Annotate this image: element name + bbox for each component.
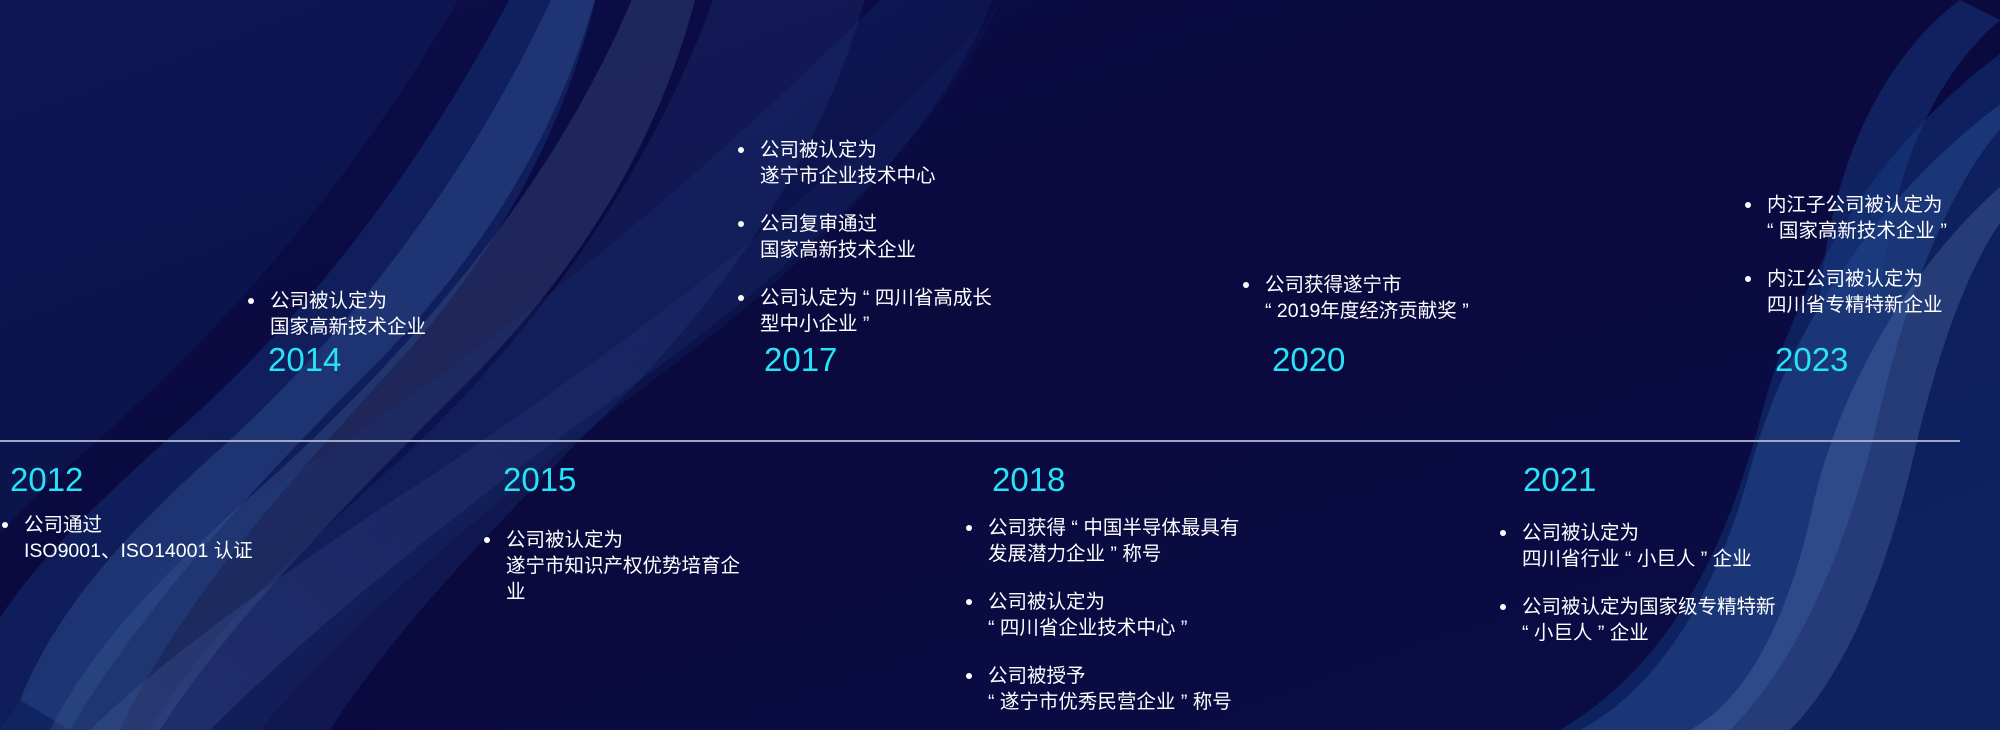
bullet-dot-icon bbox=[248, 298, 254, 304]
year-label-2018: 2018 bbox=[992, 460, 1065, 500]
bullet-item: 公司被认定为国家高新技术企业 bbox=[248, 288, 426, 340]
bullet-line: 公司复审通过 bbox=[760, 211, 992, 237]
bullet-line: 公司认定为 “ 四川省高成长 bbox=[760, 285, 992, 311]
year-bullets-2017: 公司被认定为遂宁市企业技术中心公司复审通过国家高新技术企业公司认定为 “ 四川省… bbox=[738, 137, 992, 337]
year-label-2017: 2017 bbox=[764, 340, 837, 380]
bullet-dot-icon bbox=[738, 221, 744, 227]
year-bullets-2012: 公司通过 ISO9001、ISO14001 认证 bbox=[2, 512, 253, 564]
bullet-item: 公司被认定为国家级专精特新 “ 小巨人 ” 企业 bbox=[1500, 594, 1776, 646]
bullet-list: 公司获得 “ 中国半导体最具有发展潜力企业 ” 称号公司被认定为“ 四川省企业技… bbox=[966, 515, 1239, 715]
bullet-dot-icon bbox=[1745, 202, 1751, 208]
bullet-dot-icon bbox=[484, 537, 490, 543]
bullet-line: 业 bbox=[506, 579, 740, 605]
bullet-dot-icon bbox=[966, 525, 972, 531]
slide-canvas: 2012公司通过 ISO9001、ISO14001 认证2014公司被认定为国家… bbox=[0, 0, 2000, 730]
year-label-2023: 2023 bbox=[1775, 340, 1848, 380]
bullet-list: 公司通过 ISO9001、ISO14001 认证 bbox=[2, 512, 253, 564]
bullet-item: 公司复审通过国家高新技术企业 bbox=[738, 211, 992, 263]
bullet-list: 公司被认定为遂宁市知识产权优势培育企业 bbox=[484, 527, 740, 605]
bullet-item: 公司被授予“ 遂宁市优秀民营企业 ” 称号 bbox=[966, 663, 1239, 715]
year-bullets-2021: 公司被认定为 四川省行业 “ 小巨人 ” 企业公司被认定为国家级专精特新 “ 小… bbox=[1500, 520, 1776, 646]
year-label-2015: 2015 bbox=[503, 460, 576, 500]
bullet-line: 遂宁市知识产权优势培育企 bbox=[506, 553, 740, 579]
bullet-dot-icon bbox=[1500, 604, 1506, 610]
bullet-list: 公司被认定为国家高新技术企业 bbox=[248, 288, 426, 340]
bullet-item: 公司被认定为“ 四川省企业技术中心 ” bbox=[966, 589, 1239, 641]
year-label-2021: 2021 bbox=[1523, 460, 1596, 500]
year-label-2020: 2020 bbox=[1272, 340, 1345, 380]
year-bullets-2014: 公司被认定为国家高新技术企业 bbox=[248, 288, 426, 340]
bullet-line: 公司通过 bbox=[24, 512, 253, 538]
bullet-dot-icon bbox=[1243, 282, 1249, 288]
bullet-line: “ 国家高新技术企业 ” bbox=[1767, 218, 1947, 244]
bullet-item: 公司获得 “ 中国半导体最具有发展潜力企业 ” 称号 bbox=[966, 515, 1239, 567]
bullet-line: 国家高新技术企业 bbox=[270, 314, 426, 340]
bullet-item: 公司被认定为遂宁市企业技术中心 bbox=[738, 137, 992, 189]
bullet-item: 内江子公司被认定为“ 国家高新技术企业 ” bbox=[1745, 192, 1947, 244]
bullet-dot-icon bbox=[738, 295, 744, 301]
bullet-line: 公司被认定为 bbox=[270, 288, 426, 314]
bullet-item: 公司认定为 “ 四川省高成长型中小企业 ” bbox=[738, 285, 992, 337]
bullet-dot-icon bbox=[1500, 530, 1506, 536]
bullet-dot-icon bbox=[966, 673, 972, 679]
bullet-line: “ 小巨人 ” 企业 bbox=[1522, 620, 1776, 646]
bullet-item: 公司被认定为 四川省行业 “ 小巨人 ” 企业 bbox=[1500, 520, 1776, 572]
bullet-dot-icon bbox=[2, 522, 8, 528]
bullet-line: 公司被认定为 bbox=[988, 589, 1239, 615]
bullet-line: 四川省行业 “ 小巨人 ” 企业 bbox=[1522, 546, 1776, 572]
bullet-item: 内江公司被认定为四川省专精特新企业 bbox=[1745, 266, 1947, 318]
bullet-line: 内江公司被认定为 bbox=[1767, 266, 1947, 292]
bullet-line: 公司被认定为 bbox=[1522, 520, 1776, 546]
bullet-line: “ 四川省企业技术中心 ” bbox=[988, 615, 1239, 641]
bullet-line: “ 遂宁市优秀民营企业 ” 称号 bbox=[988, 689, 1239, 715]
bullet-line: 公司被授予 bbox=[988, 663, 1239, 689]
year-label-2014: 2014 bbox=[268, 340, 341, 380]
bullet-line: 公司被认定为 bbox=[760, 137, 992, 163]
bullet-line: 公司被认定为 bbox=[506, 527, 740, 553]
year-label-2012: 2012 bbox=[10, 460, 83, 500]
bullet-dot-icon bbox=[1745, 276, 1751, 282]
bullet-line: 内江子公司被认定为 bbox=[1767, 192, 1947, 218]
bullet-line: 公司获得 “ 中国半导体最具有 bbox=[988, 515, 1239, 541]
bullet-list: 公司获得遂宁市“ 2019年度经济贡献奖 ” bbox=[1243, 272, 1469, 324]
bullet-line: ISO9001、ISO14001 认证 bbox=[24, 538, 253, 564]
year-bullets-2023: 内江子公司被认定为“ 国家高新技术企业 ”内江公司被认定为四川省专精特新企业 bbox=[1745, 192, 1947, 318]
bullet-line: 四川省专精特新企业 bbox=[1767, 292, 1947, 318]
bullet-line: “ 2019年度经济贡献奖 ” bbox=[1265, 298, 1469, 324]
bullet-line: 公司被认定为国家级专精特新 bbox=[1522, 594, 1776, 620]
bullet-item: 公司通过 ISO9001、ISO14001 认证 bbox=[2, 512, 253, 564]
bullet-item: 公司获得遂宁市“ 2019年度经济贡献奖 ” bbox=[1243, 272, 1469, 324]
bullet-line: 国家高新技术企业 bbox=[760, 237, 992, 263]
year-bullets-2020: 公司获得遂宁市“ 2019年度经济贡献奖 ” bbox=[1243, 272, 1469, 324]
bullet-list: 内江子公司被认定为“ 国家高新技术企业 ”内江公司被认定为四川省专精特新企业 bbox=[1745, 192, 1947, 318]
year-bullets-2015: 公司被认定为遂宁市知识产权优势培育企业 bbox=[484, 527, 740, 605]
bullet-line: 型中小企业 ” bbox=[760, 311, 992, 337]
bullet-line: 公司获得遂宁市 bbox=[1265, 272, 1469, 298]
bullet-dot-icon bbox=[738, 147, 744, 153]
bullet-line: 遂宁市企业技术中心 bbox=[760, 163, 992, 189]
bullet-line: 发展潜力企业 ” 称号 bbox=[988, 541, 1239, 567]
bullet-list: 公司被认定为 四川省行业 “ 小巨人 ” 企业公司被认定为国家级专精特新 “ 小… bbox=[1500, 520, 1776, 646]
year-bullets-2018: 公司获得 “ 中国半导体最具有发展潜力企业 ” 称号公司被认定为“ 四川省企业技… bbox=[966, 515, 1239, 715]
bullet-list: 公司被认定为遂宁市企业技术中心公司复审通过国家高新技术企业公司认定为 “ 四川省… bbox=[738, 137, 992, 337]
bullet-dot-icon bbox=[966, 599, 972, 605]
bullet-item: 公司被认定为遂宁市知识产权优势培育企业 bbox=[484, 527, 740, 605]
timeline-axis bbox=[0, 440, 1960, 442]
